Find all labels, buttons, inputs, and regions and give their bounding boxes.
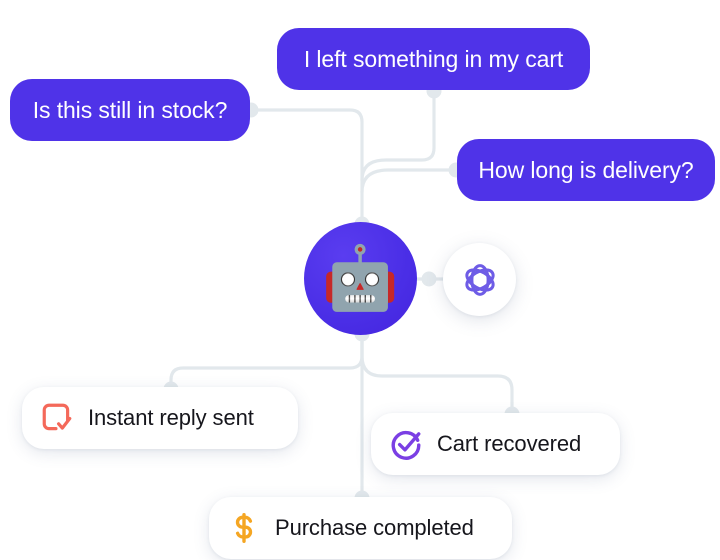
outcome-card-recover[interactable]: Cart recovered [371,413,620,475]
robot-emoji-icon: 🤖 [322,248,399,310]
outcome-label-recover: Cart recovered [437,431,603,457]
circle-check-icon [389,427,423,461]
wire-delivery [362,170,456,192]
outcome-card-reply[interactable]: Instant reply sent [22,387,298,449]
dollar-sign-icon [227,511,261,545]
atom-rosette-icon [457,257,503,303]
question-bubble-stock[interactable]: Is this still in stock? [10,79,250,141]
node-dot-hub-right [422,272,437,287]
outcome-card-purchase[interactable]: Purchase completed [209,497,512,559]
question-label-delivery: How long is delivery? [478,157,693,184]
outcome-label-purchase: Purchase completed [275,515,496,541]
ai-chatbot-hub[interactable]: 🤖 [304,222,417,335]
question-label-cart: I left something in my cart [304,46,563,73]
question-bubble-delivery[interactable]: How long is delivery? [457,139,715,201]
brand-logo-badge[interactable] [443,243,516,316]
outcome-label-reply: Instant reply sent [88,405,276,431]
question-label-stock: Is this still in stock? [33,97,228,124]
chat-check-icon [40,401,74,435]
question-bubble-cart[interactable]: I left something in my cart [277,28,590,90]
wire-reply [171,336,362,389]
wire-cart [362,91,434,180]
wire-recover [362,336,512,414]
wire-stock [251,110,362,222]
flow-diagram-canvas: Is this still in stock? I left something… [0,0,720,560]
